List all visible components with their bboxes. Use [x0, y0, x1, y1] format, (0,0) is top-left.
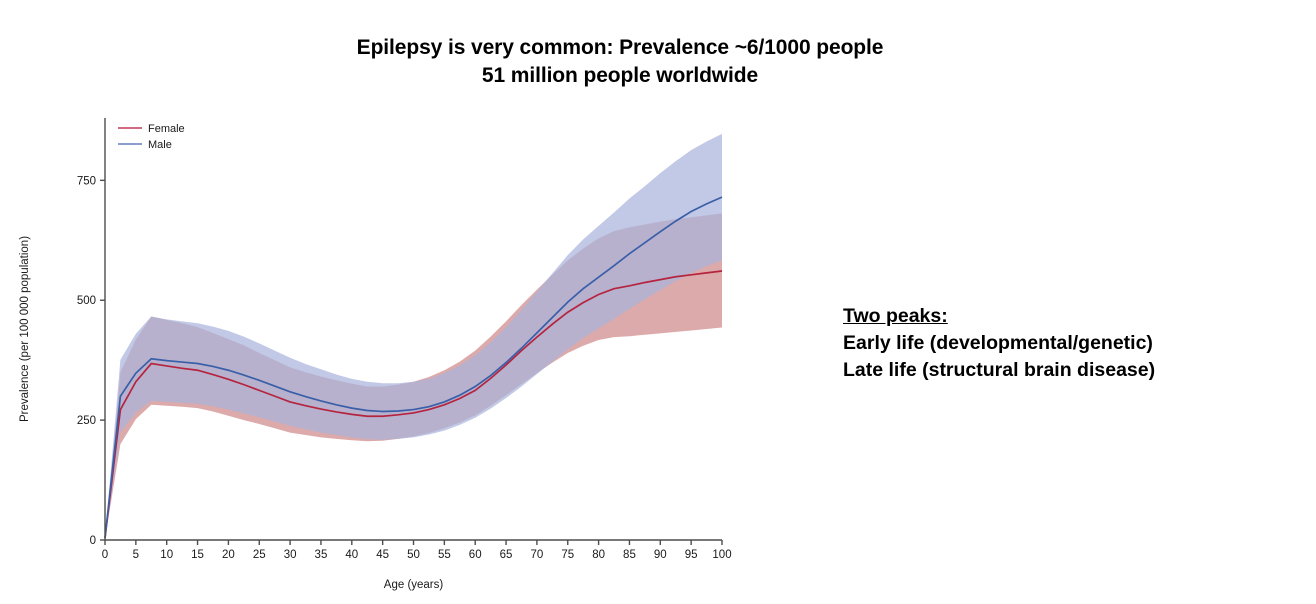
x-tick-label: 40	[345, 549, 358, 561]
x-axis-label: Age (years)	[384, 579, 444, 591]
x-tick-label: 70	[531, 549, 544, 561]
x-tick-label: 45	[376, 549, 389, 561]
y-tick-label: 500	[77, 295, 96, 307]
x-tick-label: 50	[407, 549, 420, 561]
chart-svg: 0250500750051015202530354045505560657075…	[0, 110, 780, 600]
legend-label-male: Male	[148, 139, 172, 151]
x-tick-label: 30	[284, 549, 297, 561]
y-tick-label: 750	[77, 175, 96, 187]
y-axis-label: Prevalence (per 100 000 population)	[19, 236, 31, 422]
legend-label-female: Female	[148, 123, 185, 135]
x-tick-label: 90	[654, 549, 667, 561]
page-title: Epilepsy is very common: Prevalence ~6/1…	[0, 34, 1240, 90]
x-tick-label: 85	[623, 549, 636, 561]
x-tick-label: 65	[500, 549, 513, 561]
x-tick-label: 100	[712, 549, 731, 561]
y-tick-label: 0	[90, 535, 96, 547]
x-tick-label: 60	[469, 549, 482, 561]
x-tick-label: 95	[685, 549, 698, 561]
confidence-bands	[105, 134, 722, 539]
x-tick-label: 25	[253, 549, 266, 561]
title-line-2: 51 million people worldwide	[0, 62, 1240, 90]
x-tick-label: 5	[133, 549, 139, 561]
title-line-1: Epilepsy is very common: Prevalence ~6/1…	[0, 34, 1240, 62]
x-tick-label: 0	[102, 549, 108, 561]
x-tick-label: 35	[315, 549, 328, 561]
x-tick-label: 75	[561, 549, 574, 561]
chart-legend: FemaleMale	[118, 123, 185, 151]
x-tick-label: 55	[438, 549, 451, 561]
x-tick-label: 20	[222, 549, 235, 561]
x-tick-label: 10	[160, 549, 173, 561]
slide-canvas: Epilepsy is very common: Prevalence ~6/1…	[0, 0, 1316, 604]
male-confidence-band	[105, 134, 722, 539]
key-points-block: Two peaks: Early life (developmental/gen…	[843, 303, 1303, 384]
prevalence-chart: 0250500750051015202530354045505560657075…	[0, 110, 780, 600]
y-tick-label: 250	[77, 415, 96, 427]
x-tick-label: 80	[592, 549, 605, 561]
notes-line-2: Late life (structural brain disease)	[843, 357, 1303, 384]
notes-line-1: Early life (developmental/genetic)	[843, 330, 1303, 357]
notes-heading: Two peaks:	[843, 303, 1303, 330]
x-tick-label: 15	[191, 549, 204, 561]
